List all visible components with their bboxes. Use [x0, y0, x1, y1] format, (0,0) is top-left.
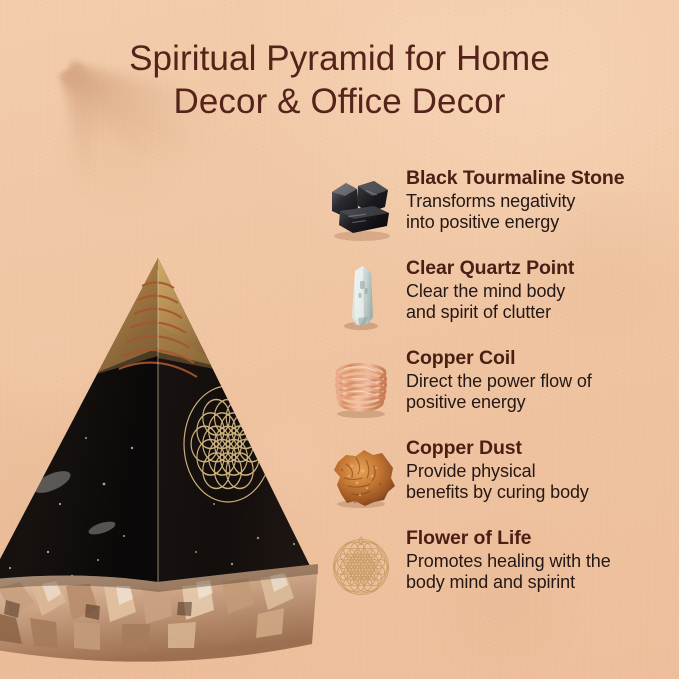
- feature-body-line: Provide physical: [406, 461, 674, 482]
- feature-item: Black Tourmaline Stone Transforms negati…: [322, 168, 674, 258]
- feature-body: Promotes healing with the body mind and …: [406, 551, 674, 593]
- feature-body-line: Direct the power flow of: [406, 371, 674, 392]
- title-line-1: Spiritual Pyramid for Home: [129, 39, 550, 78]
- black-tourmaline-icon: [322, 170, 400, 244]
- feature-item: Copper Coil Direct the power flow of pos…: [322, 348, 674, 438]
- feature-heading: Flower of Life: [406, 528, 674, 550]
- product-image: [0, 252, 330, 679]
- feature-body: Clear the mind body and spirit of clutte…: [406, 281, 674, 323]
- feature-list: Black Tourmaline Stone Transforms negati…: [322, 168, 674, 614]
- feature-heading: Copper Coil: [406, 348, 674, 370]
- page-title: Spiritual Pyramid for Home Decor & Offic…: [0, 38, 679, 123]
- feature-body-line: positive energy: [406, 392, 674, 413]
- feature-body-line: Clear the mind body: [406, 281, 674, 302]
- feature-heading: Black Tourmaline Stone: [406, 168, 674, 190]
- clear-quartz-point-icon: [322, 260, 400, 334]
- feature-body-line: and spirit of clutter: [406, 302, 674, 323]
- feature-heading: Copper Dust: [406, 438, 674, 460]
- feature-body: Transforms negativity into positive ener…: [406, 191, 674, 233]
- feature-item: Copper Dust Provide physical benefits by…: [322, 438, 674, 528]
- feature-heading: Clear Quartz Point: [406, 258, 674, 280]
- product-infographic: Spiritual Pyramid for Home Decor & Offic…: [0, 0, 679, 679]
- feature-body-line: body mind and spirint: [406, 572, 674, 593]
- feature-body-line: Transforms negativity: [406, 191, 674, 212]
- feature-item: Flower of Life Promotes healing with the…: [322, 528, 674, 614]
- flower-of-life-icon: [322, 530, 400, 604]
- feature-body: Direct the power flow of positive energy: [406, 371, 674, 413]
- feature-body-line: benefits by curing body: [406, 482, 674, 503]
- copper-dust-icon: [322, 440, 400, 514]
- feature-body-line: Promotes healing with the: [406, 551, 674, 572]
- copper-coil-icon: [322, 350, 400, 424]
- title-line-2: Decor & Office Decor: [48, 81, 631, 124]
- feature-body: Provide physical benefits by curing body: [406, 461, 674, 503]
- feature-body-line: into positive energy: [406, 212, 674, 233]
- feature-item: Clear Quartz Point Clear the mind body a…: [322, 258, 674, 348]
